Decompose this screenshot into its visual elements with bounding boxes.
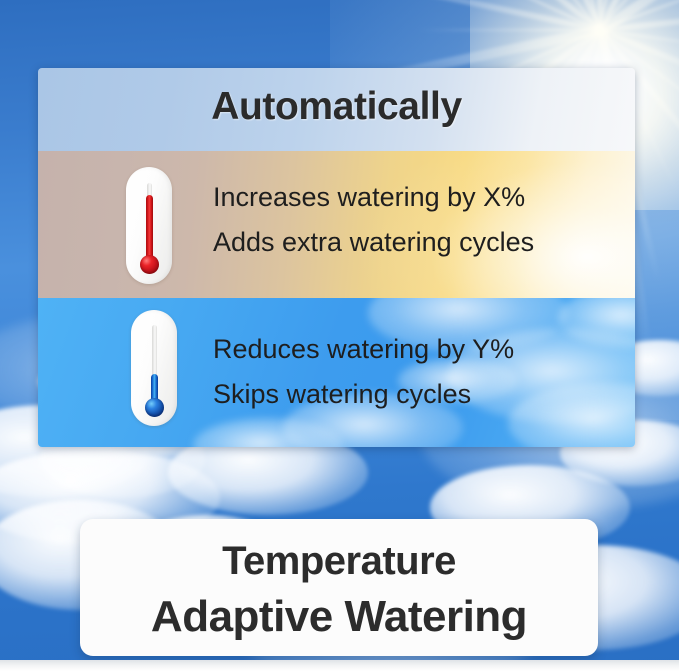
panel-header-band: Automatically — [38, 68, 635, 151]
product-title-line-1: Temperature — [80, 519, 598, 588]
cold-thermometer-icon — [131, 310, 177, 426]
cold-line-2: Skips watering cycles — [213, 372, 514, 417]
feature-panel: Automatically Increases watering by X% A… — [38, 68, 635, 447]
hot-thermometer-icon — [126, 167, 172, 284]
hot-weather-text: Increases watering by X% Adds extra wate… — [213, 175, 534, 265]
cold-line-1: Reduces watering by Y% — [213, 334, 514, 364]
promo-graphic: Automatically Increases watering by X% A… — [0, 0, 679, 671]
bottom-strip — [0, 660, 679, 671]
cold-weather-row: Reduces watering by Y% Skips watering cy… — [38, 298, 635, 447]
panel-title: Automatically — [38, 85, 635, 129]
product-title-card: Temperature Adaptive Watering — [80, 519, 598, 656]
hot-weather-row: Increases watering by X% Adds extra wate… — [38, 151, 635, 298]
hot-line-1: Increases watering by X% — [213, 182, 525, 212]
product-title-line-2: Adaptive Watering — [80, 588, 598, 646]
cold-weather-text: Reduces watering by Y% Skips watering cy… — [213, 327, 514, 417]
hot-line-2: Adds extra watering cycles — [213, 220, 534, 265]
